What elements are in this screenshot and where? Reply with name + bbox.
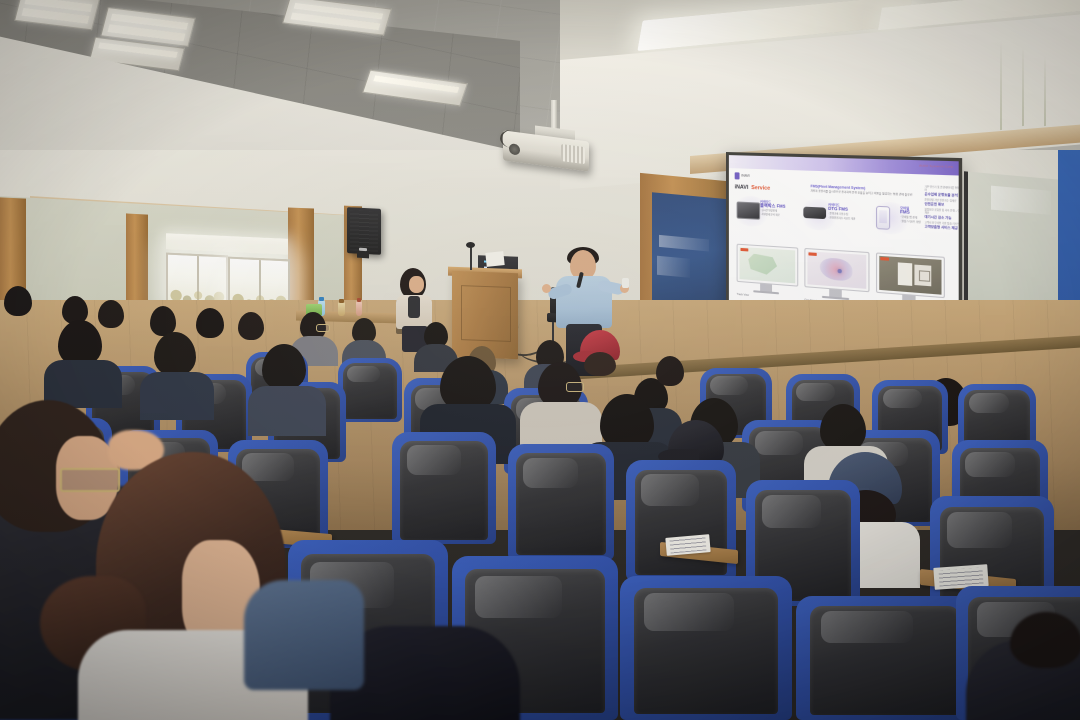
attendee-head-far-10 bbox=[4, 286, 32, 316]
attendee-body-mid-6 bbox=[248, 386, 326, 436]
front-man-glasses bbox=[60, 468, 120, 492]
moderator-face bbox=[409, 276, 424, 293]
attendee-head-mid-7 bbox=[154, 332, 196, 376]
slide-service-2: 커넥티드 DTG FMS · 운행기록 자동수집 · 안전운전지수 리포트 제공 bbox=[801, 202, 866, 205]
wall-speaker bbox=[347, 207, 381, 255]
slide-bullet-1-a: 운수업체 운행효율 분석 bbox=[925, 192, 959, 198]
attendee-glasses-far-1 bbox=[316, 324, 330, 332]
slide-title-mark: iNAVI bbox=[735, 184, 749, 191]
slide-monitor-1-caption: Track View bbox=[737, 293, 749, 297]
smartphone-icon bbox=[876, 206, 890, 230]
attendee-head-far-8 bbox=[196, 308, 224, 338]
attendee-head-mid-5 bbox=[820, 404, 866, 452]
front-denim-leg bbox=[244, 580, 364, 690]
speaker-bracket bbox=[357, 252, 369, 259]
slide-monitor-2: Geo Fencing bbox=[804, 248, 867, 302]
slide-chip-label: iNAVI bbox=[741, 174, 749, 178]
red-cap-attendee-head bbox=[584, 352, 616, 376]
lectern-mic-head bbox=[466, 242, 475, 248]
moderator-inner-top bbox=[408, 296, 420, 318]
slide-bullet-2: 운전자별 기반 안전지수 집계로 안전운전 확보 bbox=[925, 199, 959, 208]
rack-paper bbox=[485, 251, 504, 267]
attendee-glasses-mid-2 bbox=[566, 382, 584, 392]
attendee-head-far-6 bbox=[98, 300, 124, 328]
attendee-head-far-9 bbox=[238, 312, 264, 340]
presentation-clicker bbox=[622, 278, 629, 288]
seat-r4-c2[interactable] bbox=[338, 358, 402, 422]
dashcam-icon bbox=[737, 201, 760, 219]
slide-title-accent: Service bbox=[751, 185, 770, 192]
water-bottle-3 bbox=[356, 301, 362, 316]
attendee-head-far-13 bbox=[656, 356, 684, 386]
attendee-head-mid-6 bbox=[262, 344, 306, 390]
presenter-left-hand bbox=[542, 284, 551, 293]
front-right-attendee-head bbox=[1010, 612, 1080, 668]
slide-chip-icon bbox=[735, 172, 740, 179]
seat-r2-c4[interactable] bbox=[392, 432, 496, 544]
slide-bullet-column: 기존 인프라 및 운행데이터를 통합하여 운수업체 운행효율 분석 운전자별 기… bbox=[925, 186, 959, 234]
slide-title: iNAVI Service bbox=[735, 184, 771, 191]
slide-bullet-4-a: 고객맞춤형 서비스 제공 bbox=[925, 225, 959, 231]
slide-bullet-1: 기존 인프라 및 운행데이터를 통합하여 운수업체 운행효율 분석 bbox=[925, 186, 959, 198]
attendee-body-mid-7 bbox=[140, 372, 214, 420]
slide-header-note: FMS(Fleet Management System) 차량과 운전자를 실시… bbox=[811, 184, 923, 197]
water-bottle-2 bbox=[338, 302, 345, 316]
slide-bullet-4: 고객사 요구사항 기반 맞춤 리포트 고객맞춤형 서비스 제공 bbox=[925, 222, 959, 231]
seat-r1-c4[interactable] bbox=[620, 576, 792, 720]
auditorium-photo: iNAVI Systems Corp. iNAVI iNAVI Service … bbox=[0, 0, 1080, 720]
seat-r2-c5[interactable] bbox=[508, 444, 614, 560]
slide-bullet-3: 불필요한 공회전 및 과속 운행 + 연비개선 대기시간 감소 가능 bbox=[925, 209, 959, 221]
slide-bullet-3-a: 대기시간 감소 가능 bbox=[925, 215, 959, 221]
dtg-terminal-icon bbox=[803, 207, 826, 220]
lectern-mic-stand bbox=[470, 246, 472, 270]
slide-monitor-1: Track View bbox=[737, 244, 797, 296]
wall-stain-2 bbox=[1022, 46, 1024, 126]
slide-service-1: 커넥티드 블랙박스 FMS · 실시간 영상관제 · 차량상태 분석 제공 bbox=[735, 199, 797, 202]
wall-stain-1 bbox=[1000, 40, 1002, 130]
slide-chip: iNAVI bbox=[735, 171, 750, 180]
handout-paper-1[interactable] bbox=[665, 534, 710, 556]
seat-r1-c5[interactable] bbox=[796, 596, 974, 720]
wall-stain-3 bbox=[1044, 56, 1046, 126]
